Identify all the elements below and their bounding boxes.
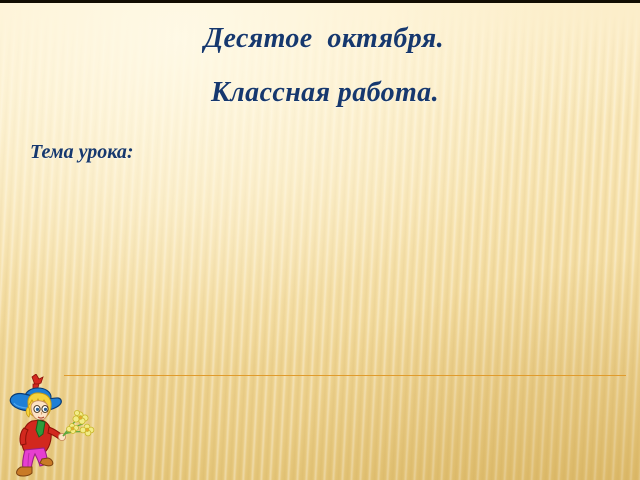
- horizontal-rule: [64, 375, 626, 376]
- date-heading: Десятое октября.: [0, 22, 640, 56]
- heading-block: Десятое октября. Классная работа.: [0, 22, 640, 110]
- lesson-topic-label: Тема урока:: [30, 140, 134, 164]
- classwork-heading: Классная работа.: [0, 76, 640, 110]
- boy-with-flowers-icon: [2, 374, 98, 478]
- slide-canvas: Десятое октября. Классная работа. Тема у…: [0, 0, 640, 480]
- boy-with-flowers-illustration: [2, 374, 98, 478]
- slide-top-frame-border: [0, 0, 640, 3]
